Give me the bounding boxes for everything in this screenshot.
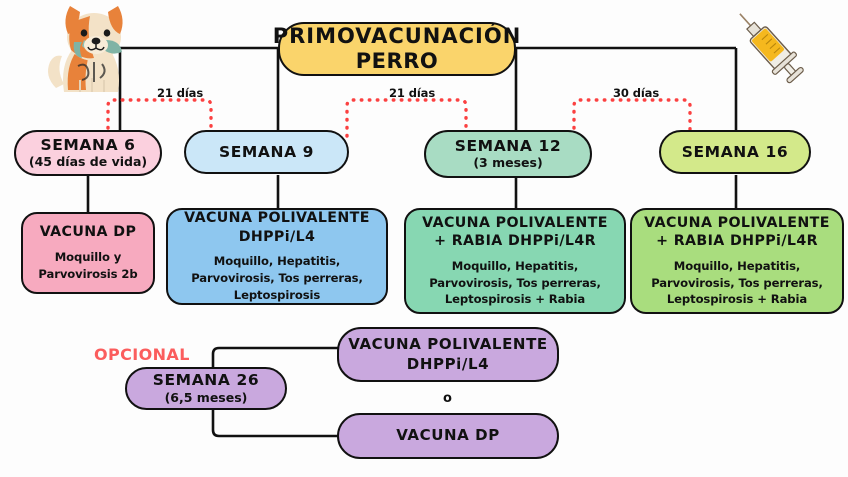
interval-label-3: 30 días (613, 86, 659, 100)
vaccine-title: VACUNA POLIVALENTE DHPPi/L4 (176, 209, 378, 246)
syringe-illustration (720, 2, 816, 88)
vaccine-title: VACUNA POLIVALENTE + RABIA DHPPi/L4R (640, 214, 834, 251)
optional-vaccine-dp[interactable]: VACUNA DP (337, 413, 559, 459)
vaccine-box-dp[interactable]: VACUNA DP Moquillo y Parvovirosis 2b (21, 212, 155, 294)
vaccine-description: Moquillo, Hepatitis, Parvovirosis, Tos p… (414, 258, 616, 308)
week-name: SEMANA 9 (219, 143, 314, 161)
vaccine-title: VACUNA POLIVALENTE + RABIA DHPPi/L4R (414, 214, 616, 251)
vaccine-box-polivalente[interactable]: VACUNA POLIVALENTE DHPPi/L4 Moquillo, He… (166, 208, 388, 305)
optional-vaccine-line-1: VACUNA POLIVALENTE (348, 335, 548, 355)
vaccine-title: VACUNA DP (40, 223, 137, 241)
optional-vaccine-polivalente[interactable]: VACUNA POLIVALENTE DHPPi/L4 (337, 327, 559, 382)
vaccine-description: Moquillo, Hepatitis, Parvovirosis, Tos p… (640, 258, 834, 308)
week-name: SEMANA 6 (40, 136, 135, 154)
vaccine-description: Moquillo, Hepatitis, Parvovirosis, Tos p… (176, 253, 378, 303)
optional-week-sub: (6,5 meses) (165, 391, 248, 406)
vaccine-description: Moquillo y Parvovirosis 2b (31, 249, 145, 283)
week-name: SEMANA 12 (455, 137, 562, 155)
title-line-1: PRIMOVACUNACIÓN (273, 24, 522, 49)
vaccine-box-polivalente-rabia-12[interactable]: VACUNA POLIVALENTE + RABIA DHPPi/L4R Moq… (404, 208, 626, 314)
week-node-semana-12[interactable]: SEMANA 12 (3 meses) (424, 130, 592, 178)
week-node-semana-9[interactable]: SEMANA 9 (184, 130, 349, 174)
week-node-semana-16[interactable]: SEMANA 16 (659, 130, 811, 174)
optional-label: OPCIONAL (94, 345, 190, 364)
week-name: SEMANA 16 (682, 143, 789, 161)
interval-label-2: 21 días (389, 86, 435, 100)
infographic-canvas: PRIMOVACUNACIÓN PERRO 21 días 21 días 30… (0, 0, 848, 477)
week-node-semana-6[interactable]: SEMANA 6 (45 días de vida) (14, 130, 162, 176)
week-sub: (45 días de vida) (29, 155, 147, 170)
optional-vaccine-line-1: VACUNA DP (396, 426, 500, 446)
optional-vaccine-line-2: DHPPi/L4 (407, 355, 489, 375)
or-separator: o (443, 391, 452, 406)
interval-label-1: 21 días (157, 86, 203, 100)
week-sub: (3 meses) (473, 156, 542, 171)
optional-week-node[interactable]: SEMANA 26 (6,5 meses) (125, 367, 287, 410)
dog-illustration (38, 0, 142, 96)
title-line-2: PERRO (356, 49, 438, 74)
optional-week-name: SEMANA 26 (153, 371, 260, 389)
vaccine-box-polivalente-rabia-16[interactable]: VACUNA POLIVALENTE + RABIA DHPPi/L4R Moq… (630, 208, 844, 314)
diagram-title: PRIMOVACUNACIÓN PERRO (278, 22, 516, 76)
